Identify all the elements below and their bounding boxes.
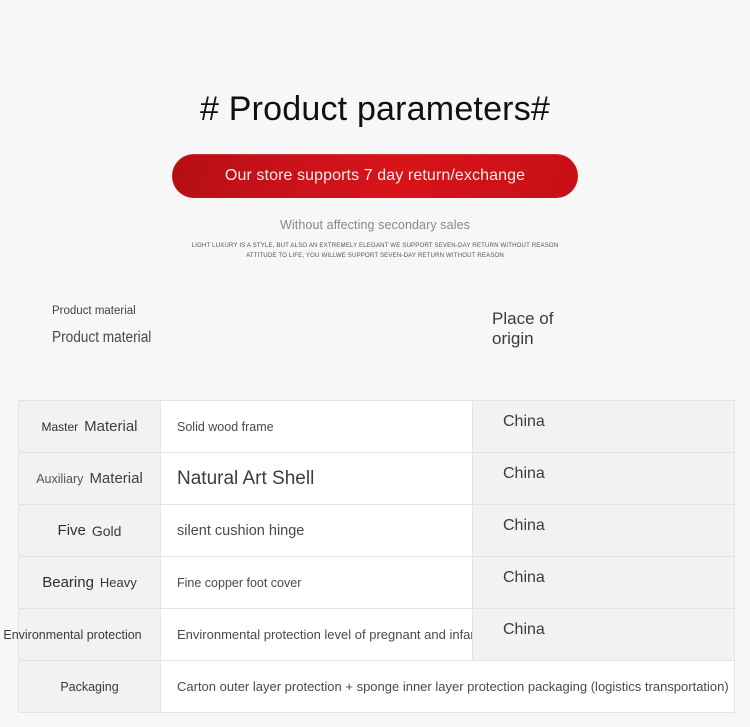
row-label-primary: Master bbox=[41, 420, 78, 434]
row-label-cell: Auxiliary Material bbox=[19, 453, 161, 505]
row-value-text: silent cushion hinge bbox=[161, 523, 472, 539]
subtitle: Without affecting secondary sales bbox=[0, 218, 750, 232]
promo-banner-container: Our store supports 7 day return/exchange bbox=[0, 154, 750, 198]
row-origin-text: China bbox=[473, 465, 734, 483]
row-label-cell: Master Material bbox=[19, 401, 161, 453]
row-value-cell: Fine copper foot cover bbox=[161, 557, 473, 609]
row-label-cell: Environmental protection bbox=[19, 609, 161, 661]
page-title: # Product parameters# bbox=[0, 0, 750, 132]
row-origin-text: China bbox=[473, 569, 734, 587]
row-label-cell: Bearing Heavy bbox=[19, 557, 161, 609]
table-row: Packaging Carton outer layer protection … bbox=[19, 661, 735, 713]
row-label-secondary: Heavy bbox=[100, 575, 137, 590]
header-product-material-large: Product material bbox=[52, 328, 151, 347]
table-row: Auxiliary Material Natural Art Shell Chi… bbox=[19, 453, 735, 505]
table-row: Master Material Solid wood frame China bbox=[19, 401, 735, 453]
row-origin-cell: China bbox=[473, 557, 735, 609]
promo-banner-button[interactable]: Our store supports 7 day return/exchange bbox=[172, 154, 578, 198]
row-origin-text: China bbox=[473, 413, 734, 431]
table-row: Five Gold silent cushion hinge China bbox=[19, 505, 735, 557]
row-label-secondary: Material bbox=[89, 470, 142, 487]
row-origin-cell: China bbox=[473, 401, 735, 453]
row-value-cell: Carton outer layer protection + sponge i… bbox=[161, 661, 735, 713]
row-origin-cell: China bbox=[473, 453, 735, 505]
row-origin-text: China bbox=[473, 621, 734, 639]
row-origin-text: China bbox=[473, 517, 734, 535]
header-product-material: Product material Product material bbox=[52, 305, 144, 318]
row-label-primary: Packaging bbox=[60, 680, 118, 694]
row-value-text: Solid wood frame bbox=[161, 420, 472, 434]
fineprint-block: LIGHT LUXURY IS A STYLE, BUT ALSO AN EXT… bbox=[11, 241, 739, 261]
row-value-cell: Environmental protection level of pregna… bbox=[161, 609, 473, 661]
row-label-primary: Five bbox=[58, 522, 86, 539]
row-value-cell: silent cushion hinge bbox=[161, 505, 473, 557]
row-label-secondary: Material bbox=[84, 418, 137, 435]
header-place-of-origin: Place of origin bbox=[492, 309, 582, 349]
fineprint-line-2: ATTITUDE TO LIFE, YOU WILLWE SUPPORT SEV… bbox=[11, 251, 739, 261]
row-value-text: Fine copper foot cover bbox=[161, 576, 472, 590]
row-label-secondary: Gold bbox=[92, 523, 122, 539]
row-label-primary: Environmental protection bbox=[3, 628, 141, 642]
fineprint-line-1: LIGHT LUXURY IS A STYLE, BUT ALSO AN EXT… bbox=[11, 241, 739, 251]
row-label-primary: Bearing bbox=[42, 574, 94, 591]
product-parameters-table: Master Material Solid wood frame China A… bbox=[18, 400, 735, 713]
row-value-cell: Natural Art Shell bbox=[161, 453, 473, 505]
header-product-material-small: Product material bbox=[52, 305, 144, 318]
row-value-text: Environmental protection level of pregna… bbox=[161, 627, 472, 642]
table-row: Bearing Heavy Fine copper foot cover Chi… bbox=[19, 557, 735, 609]
row-value-text: Carton outer layer protection + sponge i… bbox=[161, 679, 734, 694]
row-label-cell: Packaging bbox=[19, 661, 161, 713]
row-label-primary: Auxiliary bbox=[36, 472, 83, 486]
table-header-row: Product material Product material Place … bbox=[0, 305, 750, 369]
table-row: Environmental protection Environmental p… bbox=[19, 609, 735, 661]
row-origin-cell: China bbox=[473, 505, 735, 557]
row-label-cell: Five Gold bbox=[19, 505, 161, 557]
row-value-text: Natural Art Shell bbox=[161, 468, 472, 490]
row-value-cell: Solid wood frame bbox=[161, 401, 473, 453]
row-origin-cell: China bbox=[473, 609, 735, 661]
